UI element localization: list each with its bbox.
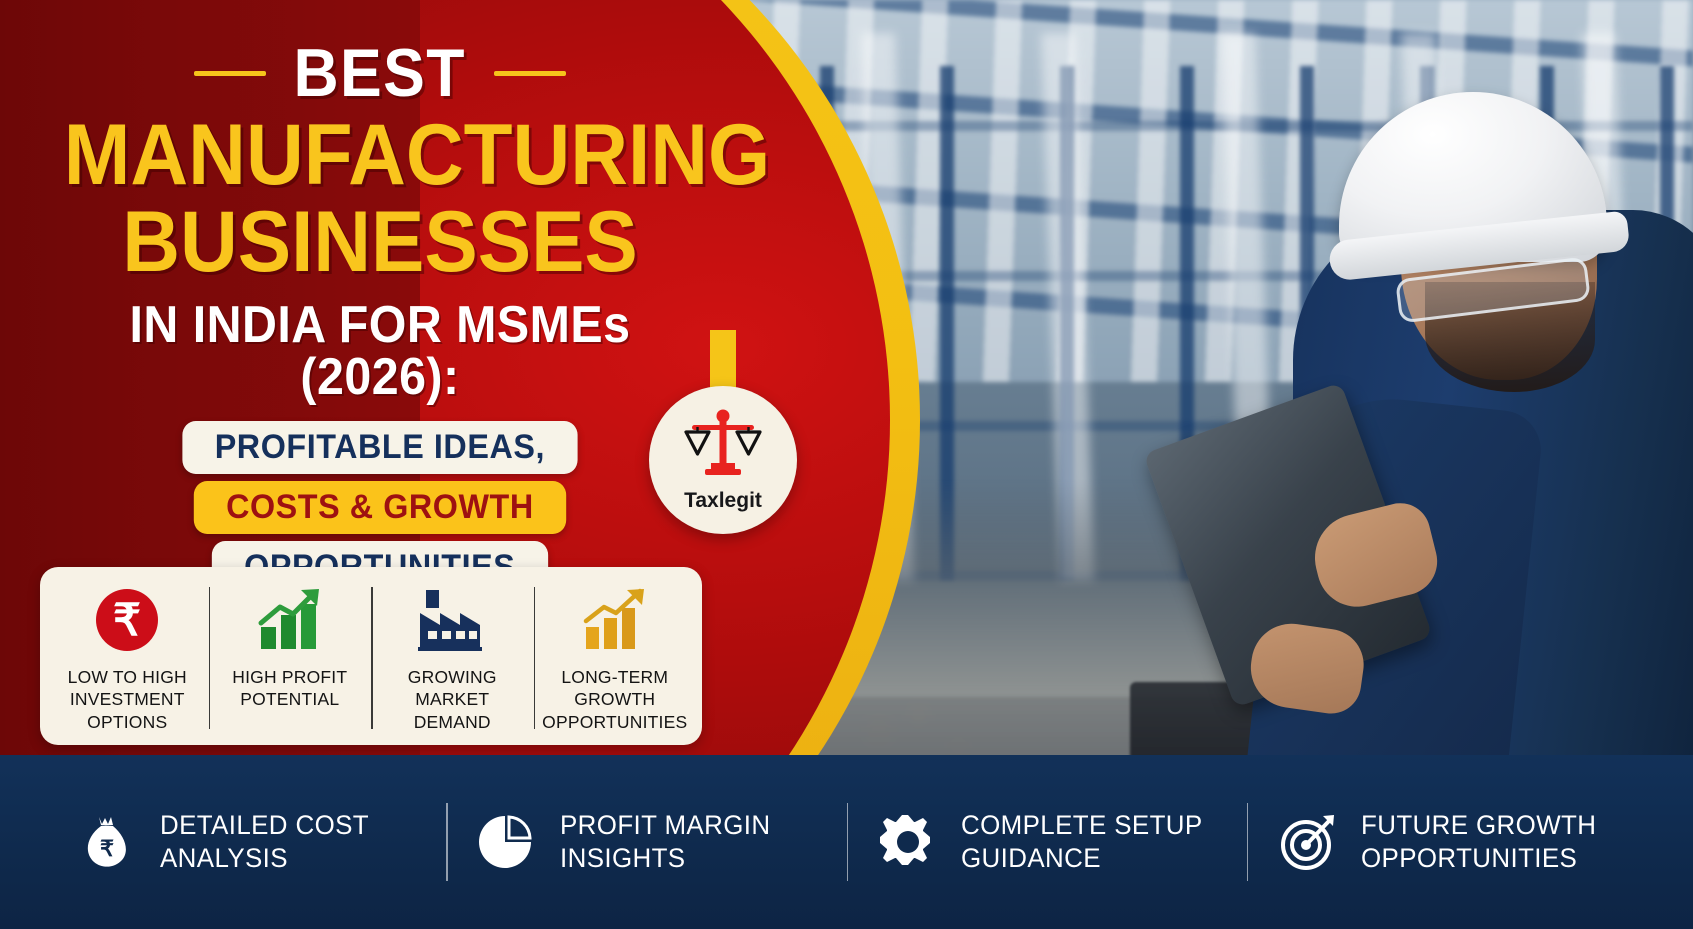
target-dart-icon xyxy=(1277,811,1339,873)
feature-label: HIGH PROFIT POTENTIAL xyxy=(215,666,366,711)
headline-line-3: IN INDIA FOR MSMEs (2026): xyxy=(64,299,696,403)
factory-icon xyxy=(414,581,490,659)
amber-growth-chart-icon xyxy=(578,581,652,659)
eyebrow-row: BEST xyxy=(40,34,720,112)
feature-label: GROWING MARKET DEMAND xyxy=(377,666,528,733)
headline-line-1: MANUFACTURING xyxy=(64,114,696,197)
feature-label: LOW TO HIGH INVESTMENT OPTIONS xyxy=(52,666,203,733)
rupee-circle-icon: ₹ xyxy=(94,581,160,659)
bottom-item-setup-guidance[interactable]: COMPLETE SETUP GUIDANCE xyxy=(847,809,1247,875)
taxlegit-logo-badge[interactable]: Taxlegit xyxy=(649,386,797,534)
bottom-item-profit-margin[interactable]: PROFIT MARGIN INSIGHTS xyxy=(446,809,846,875)
feature-item-longterm: LONG-TERM GROWTH OPPORTUNITIES xyxy=(534,581,697,735)
feature-item-profit: HIGH PROFIT POTENTIAL xyxy=(209,581,372,735)
svg-text:₹: ₹ xyxy=(100,836,114,861)
worker-figure xyxy=(1223,0,1693,830)
feature-label: LONG-TERM GROWTH OPPORTUNITIES xyxy=(540,666,691,733)
scales-of-justice-icon xyxy=(680,408,766,487)
feature-item-investment: ₹ LOW TO HIGH INVESTMENT OPTIONS xyxy=(46,581,209,735)
feature-highlights-card: ₹ LOW TO HIGH INVESTMENT OPTIONS HIGH PR… xyxy=(40,567,702,745)
bottom-item-label: COMPLETE SETUP GUIDANCE xyxy=(961,809,1203,875)
svg-text:₹: ₹ xyxy=(113,596,141,645)
bottom-item-label: DETAILED COST ANALYSIS xyxy=(160,809,369,875)
money-bag-rupee-icon: ₹ xyxy=(76,811,138,873)
bottom-item-cost-analysis[interactable]: ₹ DETAILED COST ANALYSIS xyxy=(46,809,446,875)
bottom-item-label: PROFIT MARGIN INSIGHTS xyxy=(560,809,770,875)
subtitle-pill-2: COSTS & GROWTH xyxy=(194,481,566,534)
feature-item-market: GROWING MARKET DEMAND xyxy=(371,581,534,735)
logo-wordmark: Taxlegit xyxy=(684,489,762,513)
green-growth-chart-icon xyxy=(253,581,327,659)
bottom-item-label: FUTURE GROWTH OPPORTUNITIES xyxy=(1361,809,1596,875)
promotional-banner: BEST MANUFACTURING BUSINESSES IN INDIA F… xyxy=(0,0,1693,929)
headline-line-2: BUSINESSES xyxy=(64,201,696,284)
eyebrow-text: BEST xyxy=(294,34,466,112)
bottom-item-future-growth[interactable]: FUTURE GROWTH OPPORTUNITIES xyxy=(1247,809,1647,875)
pie-chart-icon xyxy=(476,811,538,873)
dash-left-icon xyxy=(194,71,266,76)
bottom-feature-bar: ₹ DETAILED COST ANALYSIS PROFIT MARGIN I… xyxy=(0,755,1693,929)
gear-icon xyxy=(877,811,939,873)
dash-right-icon xyxy=(494,71,566,76)
subtitle-pill-1: PROFITABLE IDEAS, xyxy=(183,421,578,474)
